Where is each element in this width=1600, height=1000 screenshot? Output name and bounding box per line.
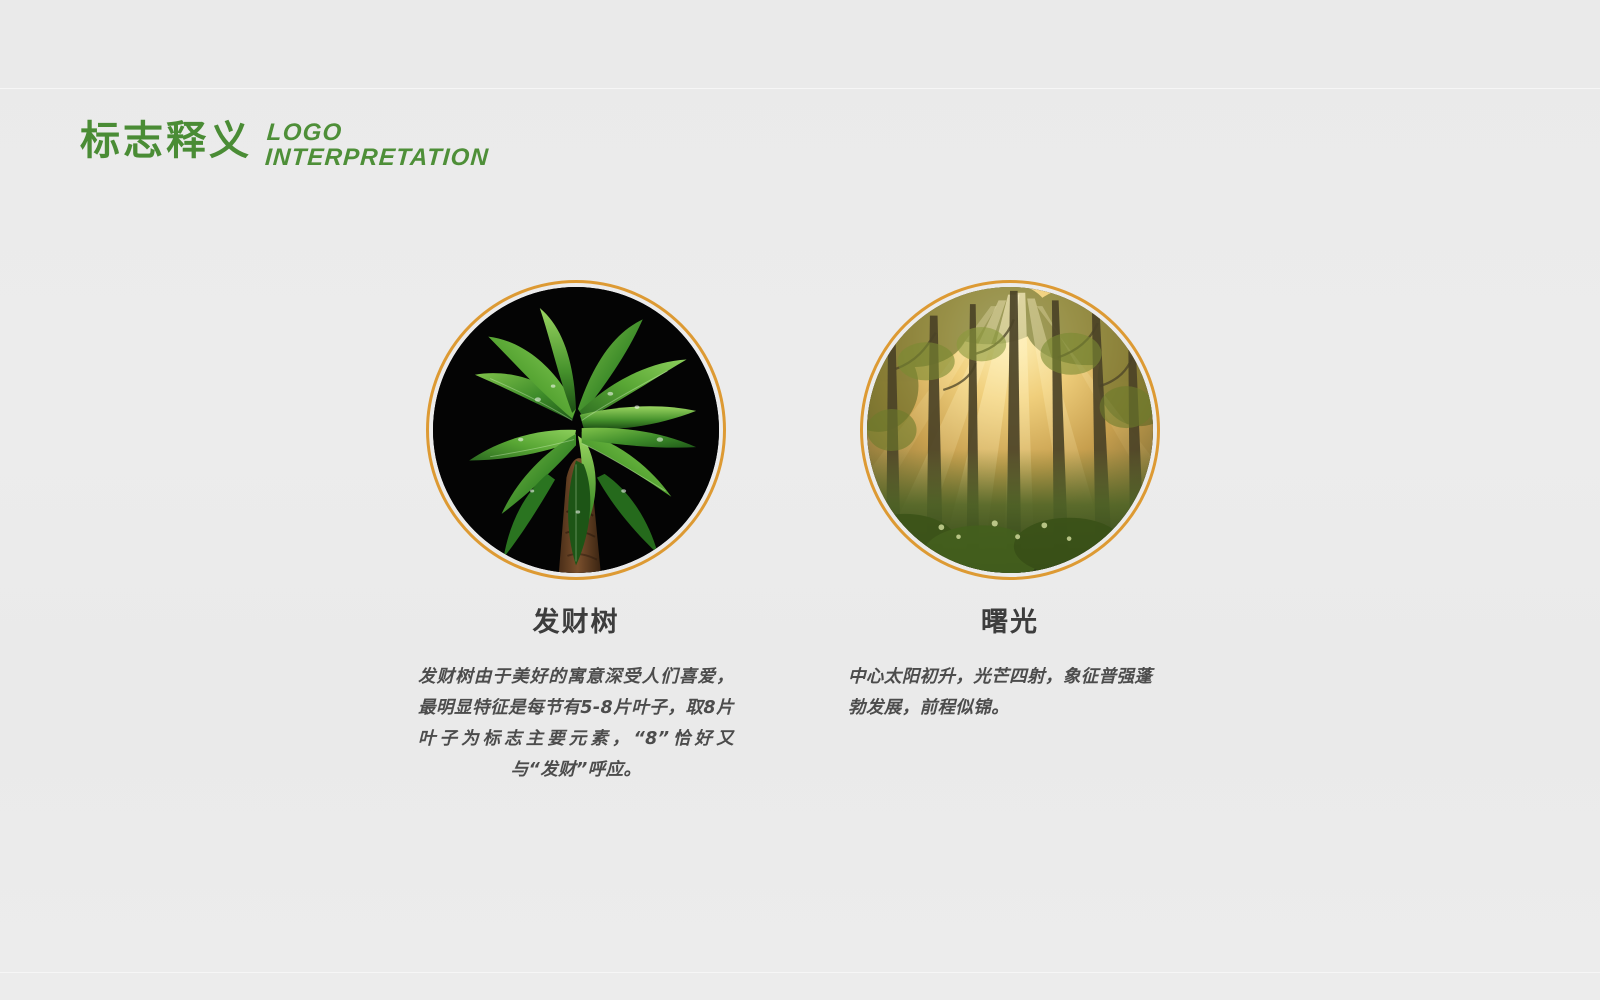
column-caption-money-tree: 发财树: [426, 606, 726, 640]
content-columns: 发财树 发财树由于美好的寓意深受人们喜爱，最明显特征是每节有5-8片叶子，取8片…: [0, 0, 1600, 1000]
column-body-money-tree: 发财树由于美好的寓意深受人们喜爱，最明显特征是每节有5-8片叶子，取8片叶子为标…: [418, 662, 734, 786]
content-column-money-tree: 发财树 发财树由于美好的寓意深受人们喜爱，最明显特征是每节有5-8片叶子，取8片…: [426, 280, 726, 786]
column-body-dawn: 中心太阳初升，光芒四射，象征普强蓬勃发展，前程似锦。: [848, 662, 1164, 724]
column-caption-dawn: 曙光: [860, 606, 1160, 640]
slide-canvas: 标志释义 LOGO INTERPRETATION: [0, 0, 1600, 1000]
media-circle-money-tree: [426, 280, 726, 580]
media-ring-gold: [426, 280, 726, 580]
media-circle-dawn: [860, 280, 1160, 580]
content-column-dawn: 曙光 中心太阳初升，光芒四射，象征普强蓬勃发展，前程似锦。: [860, 280, 1160, 724]
media-ring-gold: [860, 280, 1160, 580]
